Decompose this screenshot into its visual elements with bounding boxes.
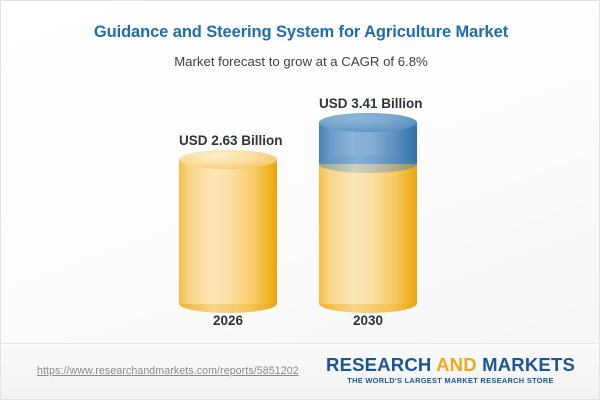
bar-value-label-2030: USD 3.41 Billion bbox=[319, 96, 417, 111]
bar-cylinder-2030[interactable] bbox=[319, 122, 417, 304]
bar-top-ellipse-2030 bbox=[319, 113, 417, 132]
bar-segment-fill-base-2030 bbox=[319, 164, 417, 304]
x-axis-tick-label-2030: 2030 bbox=[319, 313, 417, 328]
logo-wordmark: RESEARCH AND MARKETS bbox=[326, 355, 575, 374]
logo-word-research: RESEARCH bbox=[326, 354, 431, 375]
chart-plot-area: USD 2.63 Billion 2026 USD 3.41 Billion bbox=[1, 1, 600, 346]
x-axis-tick-label-2026: 2026 bbox=[179, 313, 277, 328]
footer: https://www.researchandmarkets.com/repor… bbox=[1, 343, 600, 399]
bar-group-2030: USD 3.41 Billion 2030 bbox=[319, 1, 417, 346]
bar-group-2026: USD 2.63 Billion 2026 bbox=[179, 1, 277, 346]
logo-word-and-text: AND bbox=[436, 354, 477, 375]
bar-segment-seam-2030 bbox=[319, 155, 417, 173]
bar-top-ellipse-2026 bbox=[179, 150, 277, 169]
bar-value-label-2026: USD 2.63 Billion bbox=[179, 133, 277, 148]
source-url-link[interactable]: https://www.researchandmarkets.com/repor… bbox=[37, 365, 299, 377]
market-infographic: Guidance and Steering System for Agricul… bbox=[0, 0, 600, 400]
bar-segment-base-2026 bbox=[179, 159, 277, 304]
logo-word-markets: MARKETS bbox=[482, 354, 575, 375]
bar-segment-base-2030 bbox=[319, 164, 417, 304]
bar-cylinder-2026[interactable] bbox=[179, 159, 277, 304]
logo-tagline: THE WORLD'S LARGEST MARKET RESEARCH STOR… bbox=[326, 374, 575, 385]
bar-segment-fill-2026 bbox=[179, 159, 277, 304]
research-and-markets-logo[interactable]: RESEARCH AND MARKETS THE WORLD'S LARGEST… bbox=[326, 355, 575, 386]
